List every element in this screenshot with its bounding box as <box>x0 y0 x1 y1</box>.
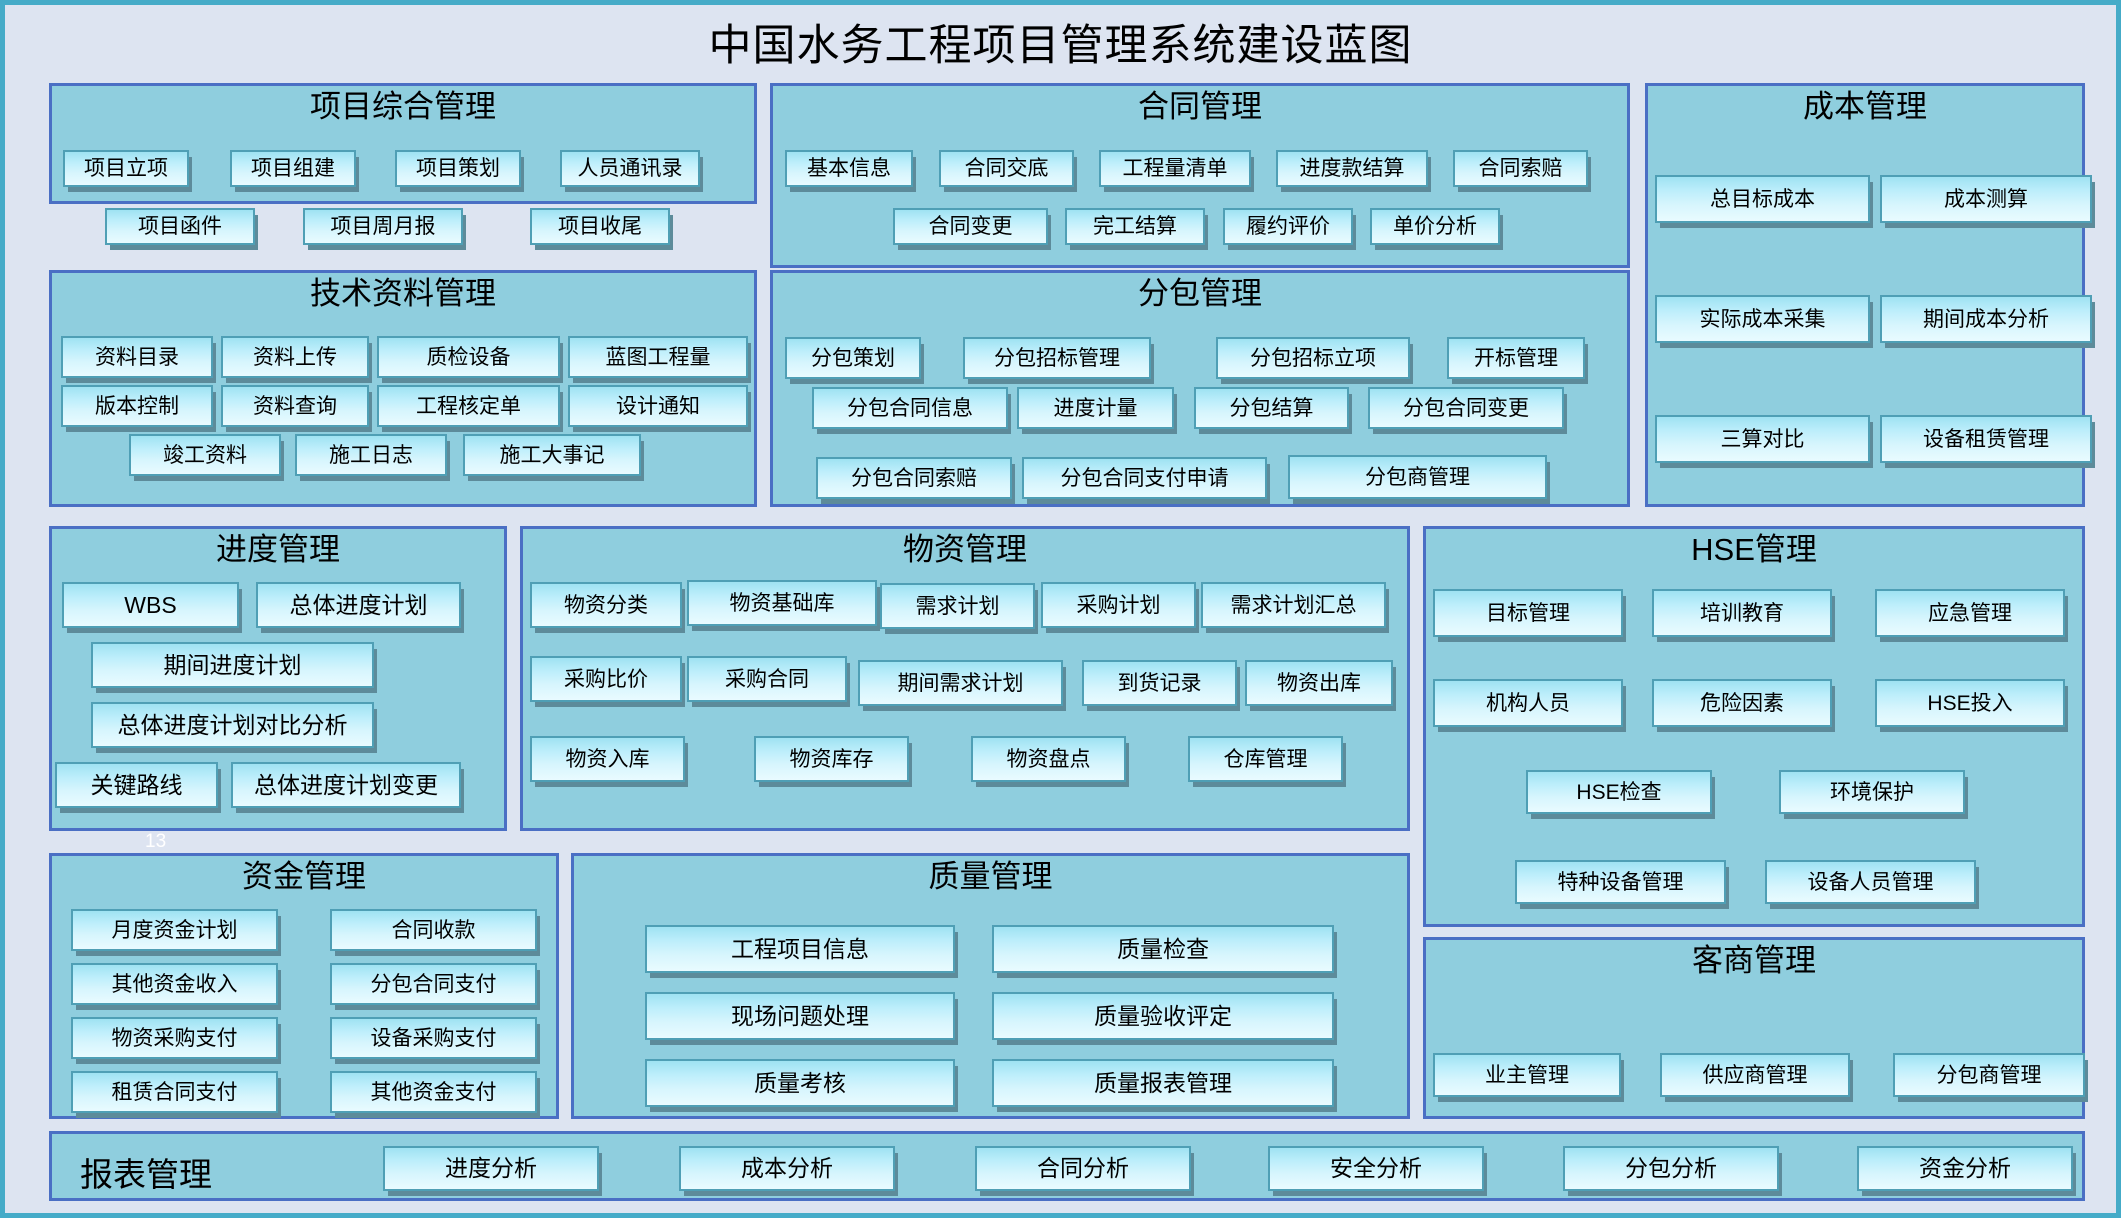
button-需求计划汇总[interactable]: 需求计划汇总 <box>1201 582 1386 628</box>
button-单价分析[interactable]: 单价分析 <box>1370 208 1500 245</box>
button-人员通讯录[interactable]: 人员通讯录 <box>560 150 700 187</box>
button-成本测算[interactable]: 成本测算 <box>1880 175 2092 223</box>
button-特种设备管理[interactable]: 特种设备管理 <box>1515 860 1726 904</box>
button-基本信息[interactable]: 基本信息 <box>785 150 913 187</box>
button-完工结算[interactable]: 完工结算 <box>1065 208 1205 245</box>
button-项目函件[interactable]: 项目函件 <box>105 208 255 245</box>
button-分包合同变更[interactable]: 分包合同变更 <box>1368 387 1564 429</box>
panel-title-tech-doc: 技术资料管理 <box>52 273 754 310</box>
button-分包招标管理[interactable]: 分包招标管理 <box>963 337 1151 379</box>
button-成本分析[interactable]: 成本分析 <box>679 1146 895 1191</box>
button-资料上传[interactable]: 资料上传 <box>221 336 369 378</box>
button-分包合同支付申请[interactable]: 分包合同支付申请 <box>1022 457 1267 499</box>
button-分包招标立项[interactable]: 分包招标立项 <box>1216 337 1410 379</box>
button-危险因素[interactable]: 危险因素 <box>1652 679 1832 727</box>
button-物资基础库[interactable]: 物资基础库 <box>687 580 877 626</box>
button-合同变更[interactable]: 合同变更 <box>893 208 1048 245</box>
button-三算对比[interactable]: 三算对比 <box>1655 415 1870 463</box>
button-设备租赁管理[interactable]: 设备租赁管理 <box>1880 415 2092 463</box>
button-设计通知[interactable]: 设计通知 <box>568 385 748 427</box>
button-质量报表管理[interactable]: 质量报表管理 <box>992 1059 1334 1107</box>
button-到货记录[interactable]: 到货记录 <box>1082 660 1237 706</box>
button-环境保护[interactable]: 环境保护 <box>1779 770 1965 814</box>
button-HSE检查[interactable]: HSE检查 <box>1526 770 1712 814</box>
panel-title-material: 物资管理 <box>523 529 1407 566</box>
button-设备人员管理[interactable]: 设备人员管理 <box>1765 860 1976 904</box>
button-开标管理[interactable]: 开标管理 <box>1447 337 1585 379</box>
button-实际成本采集[interactable]: 实际成本采集 <box>1655 295 1870 343</box>
button-项目收尾[interactable]: 项目收尾 <box>530 208 670 245</box>
button-工程项目信息[interactable]: 工程项目信息 <box>645 925 955 973</box>
button-资料目录[interactable]: 资料目录 <box>61 336 213 378</box>
button-物资盘点[interactable]: 物资盘点 <box>971 736 1126 782</box>
button-分包合同支付[interactable]: 分包合同支付 <box>330 963 537 1005</box>
stray-number: 13 <box>145 831 166 853</box>
button-设备采购支付[interactable]: 设备采购支付 <box>330 1017 537 1059</box>
button-分包商管理[interactable]: 分包商管理 <box>1893 1053 2085 1097</box>
button-分包结算[interactable]: 分包结算 <box>1194 387 1349 429</box>
button-进度计量[interactable]: 进度计量 <box>1017 387 1174 429</box>
button-物资分类[interactable]: 物资分类 <box>530 582 682 628</box>
page-title: 中国水务工程项目管理系统建设蓝图 <box>5 11 2116 73</box>
panel-title-fund: 资金管理 <box>52 856 556 893</box>
button-质量检查[interactable]: 质量检查 <box>992 925 1334 973</box>
button-HSE投入[interactable]: HSE投入 <box>1875 679 2065 727</box>
button-合同交底[interactable]: 合同交底 <box>939 150 1074 187</box>
button-机构人员[interactable]: 机构人员 <box>1433 679 1623 727</box>
button-项目组建[interactable]: 项目组建 <box>230 150 356 187</box>
button-总体进度计划变更[interactable]: 总体进度计划变更 <box>231 762 461 808</box>
button-培训教育[interactable]: 培训教育 <box>1652 589 1832 637</box>
button-合同分析[interactable]: 合同分析 <box>975 1146 1191 1191</box>
button-总体进度计划对比分析[interactable]: 总体进度计划对比分析 <box>91 702 374 748</box>
button-租赁合同支付[interactable]: 租赁合同支付 <box>71 1071 278 1113</box>
button-进度分析[interactable]: 进度分析 <box>383 1146 599 1191</box>
panel-title-project-integrated: 项目综合管理 <box>52 86 754 123</box>
button-其他资金收入[interactable]: 其他资金收入 <box>71 963 278 1005</box>
button-安全分析[interactable]: 安全分析 <box>1268 1146 1484 1191</box>
button-分包合同索赔[interactable]: 分包合同索赔 <box>816 457 1012 499</box>
button-期间成本分析[interactable]: 期间成本分析 <box>1880 295 2092 343</box>
button-物资入库[interactable]: 物资入库 <box>530 736 685 782</box>
button-工程量清单[interactable]: 工程量清单 <box>1099 150 1251 187</box>
button-施工大事记[interactable]: 施工大事记 <box>463 434 641 476</box>
button-其他资金支付[interactable]: 其他资金支付 <box>330 1071 537 1113</box>
button-仓库管理[interactable]: 仓库管理 <box>1188 736 1343 782</box>
button-资金分析[interactable]: 资金分析 <box>1857 1146 2073 1191</box>
button-分包策划[interactable]: 分包策划 <box>785 337 921 379</box>
button-业主管理[interactable]: 业主管理 <box>1433 1053 1621 1097</box>
button-分包商管理[interactable]: 分包商管理 <box>1288 455 1547 499</box>
button-关键路线[interactable]: 关键路线 <box>55 762 218 808</box>
button-质检设备[interactable]: 质检设备 <box>377 336 560 378</box>
button-月度资金计划[interactable]: 月度资金计划 <box>71 909 278 951</box>
button-竣工资料[interactable]: 竣工资料 <box>129 434 281 476</box>
button-WBS[interactable]: WBS <box>62 582 239 628</box>
button-施工日志[interactable]: 施工日志 <box>295 434 447 476</box>
panel-title-hse: HSE管理 <box>1426 529 2082 566</box>
button-版本控制[interactable]: 版本控制 <box>61 385 213 427</box>
button-进度款结算[interactable]: 进度款结算 <box>1276 150 1428 187</box>
button-采购比价[interactable]: 采购比价 <box>530 656 682 702</box>
button-应急管理[interactable]: 应急管理 <box>1875 589 2065 637</box>
button-分包合同信息[interactable]: 分包合同信息 <box>812 387 1008 429</box>
button-物资采购支付[interactable]: 物资采购支付 <box>71 1017 278 1059</box>
button-履约评价[interactable]: 履约评价 <box>1223 208 1353 245</box>
button-现场问题处理[interactable]: 现场问题处理 <box>645 992 955 1040</box>
button-蓝图工程量[interactable]: 蓝图工程量 <box>568 336 748 378</box>
panel-title-cost: 成本管理 <box>1648 86 2082 123</box>
button-项目周月报[interactable]: 项目周月报 <box>303 208 463 245</box>
button-工程核定单[interactable]: 工程核定单 <box>377 385 560 427</box>
button-总目标成本[interactable]: 总目标成本 <box>1655 175 1870 223</box>
button-项目立项[interactable]: 项目立项 <box>63 150 189 187</box>
button-质量验收评定[interactable]: 质量验收评定 <box>992 992 1334 1040</box>
panel-title-subcontract: 分包管理 <box>773 273 1627 310</box>
button-供应商管理[interactable]: 供应商管理 <box>1660 1053 1850 1097</box>
button-资料查询[interactable]: 资料查询 <box>221 385 369 427</box>
button-分包分析[interactable]: 分包分析 <box>1563 1146 1779 1191</box>
button-采购计划[interactable]: 采购计划 <box>1041 582 1196 628</box>
button-合同索赔[interactable]: 合同索赔 <box>1453 150 1588 187</box>
button-合同收款[interactable]: 合同收款 <box>330 909 537 951</box>
button-总体进度计划[interactable]: 总体进度计划 <box>256 582 461 628</box>
panel-title-quality: 质量管理 <box>574 856 1407 893</box>
panel-title-schedule: 进度管理 <box>52 529 504 566</box>
button-目标管理[interactable]: 目标管理 <box>1433 589 1623 637</box>
report-bar-title: 报表管理 <box>80 1148 212 1196</box>
button-物资库存[interactable]: 物资库存 <box>754 736 909 782</box>
button-物资出库[interactable]: 物资出库 <box>1245 660 1393 706</box>
button-质量考核[interactable]: 质量考核 <box>645 1059 955 1107</box>
button-期间进度计划[interactable]: 期间进度计划 <box>91 642 374 688</box>
button-项目策划[interactable]: 项目策划 <box>395 150 521 187</box>
button-需求计划[interactable]: 需求计划 <box>880 583 1035 629</box>
button-采购合同[interactable]: 采购合同 <box>687 656 847 702</box>
blueprint-slide: 中国水务工程项目管理系统建设蓝图 项目综合管理 项目立项 项目组建 项目策划 人… <box>5 5 2116 1213</box>
button-期间需求计划[interactable]: 期间需求计划 <box>858 660 1063 706</box>
panel-title-contract: 合同管理 <box>773 86 1627 123</box>
panel-title-partner: 客商管理 <box>1426 940 2082 977</box>
